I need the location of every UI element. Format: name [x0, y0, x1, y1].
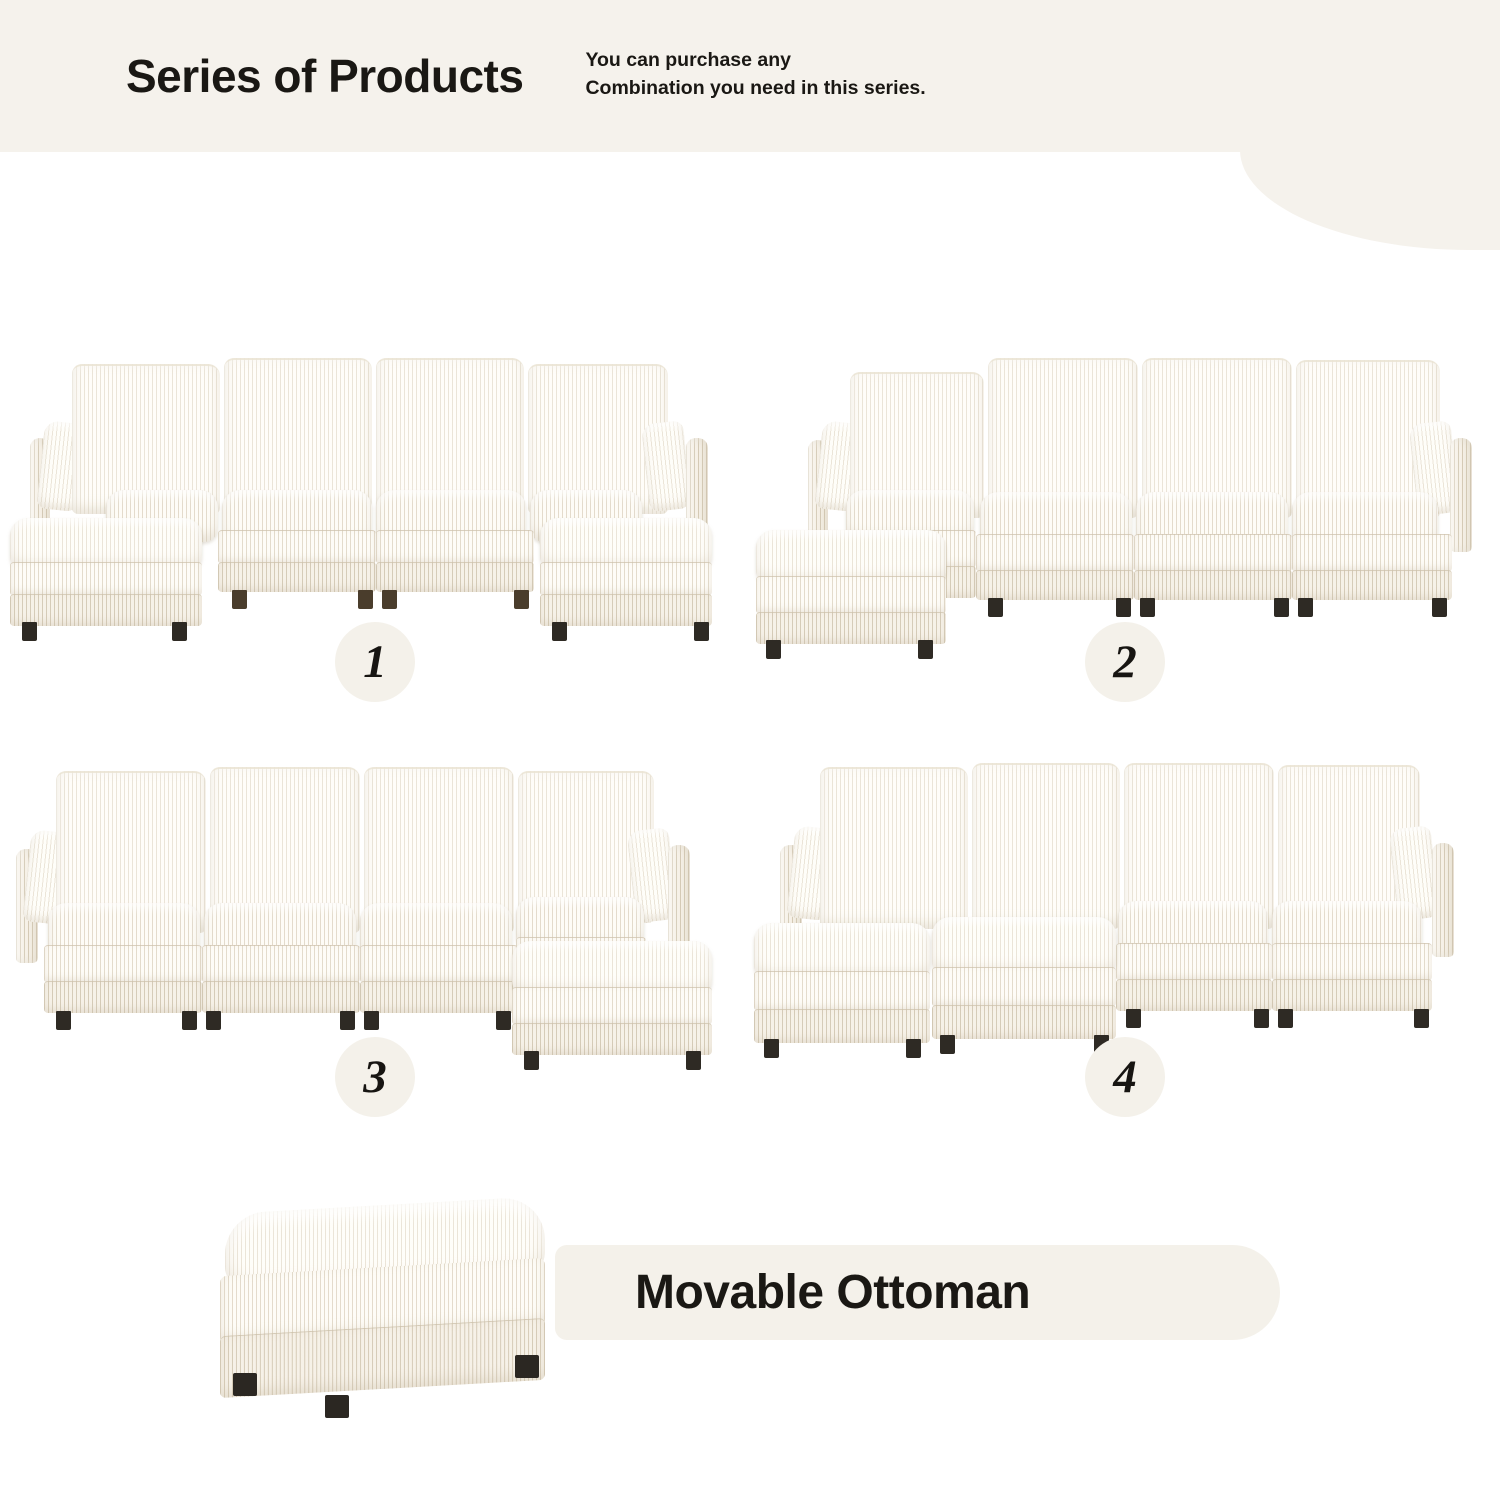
sofa-foot-2 — [1116, 598, 1131, 617]
ottoman-right-foot-1 — [552, 622, 567, 641]
sofa-foot-1 — [56, 1011, 71, 1030]
ottoman-foot-1 — [524, 1051, 539, 1070]
ottoman-hero-foot-1 — [233, 1373, 257, 1396]
ottoman-hero-foot-2 — [325, 1395, 349, 1418]
configuration-2[interactable]: 2 — [750, 330, 1500, 745]
sofa-foot-3 — [1140, 598, 1155, 617]
ottoman-a-foot-1 — [764, 1039, 779, 1058]
sofa-foot-1 — [988, 598, 1003, 617]
configuration-badge-3: 3 — [335, 1037, 415, 1117]
movable-ottoman-illustration[interactable] — [215, 1205, 565, 1420]
configuration-1[interactable]: 1 — [0, 330, 750, 745]
ottoman-hero-foot-3 — [515, 1355, 539, 1378]
ottoman-left-foot-2 — [172, 622, 187, 641]
ottoman-a-top[interactable] — [754, 971, 930, 1011]
seat-base-1 — [976, 534, 1134, 572]
configuration-badge-2: 2 — [1085, 622, 1165, 702]
sofa-foot-3 — [382, 590, 397, 609]
seat-base-3 — [376, 530, 534, 564]
seat-base-2 — [202, 945, 360, 983]
sofa-illustration-3 — [0, 745, 750, 1045]
ottoman-left-foot-1 — [22, 622, 37, 641]
plinth-2 — [202, 981, 360, 1013]
sofa-foot-4 — [340, 1011, 355, 1030]
sofa-foot-4 — [514, 590, 529, 609]
page-subtitle: You can purchase any Combination you nee… — [585, 47, 925, 102]
ottoman-left-top[interactable] — [10, 562, 202, 596]
ottoman-a-foot-2 — [906, 1039, 921, 1058]
ottoman-b-top[interactable] — [932, 967, 1116, 1007]
configuration-badge-4: 4 — [1085, 1037, 1165, 1117]
sofa-foot-6 — [496, 1011, 511, 1030]
seat-base-1 — [44, 945, 202, 983]
ottoman-b-foot-1 — [940, 1035, 955, 1054]
movable-ottoman-banner: Movable Ottoman — [555, 1245, 1280, 1340]
seat-base-2 — [218, 530, 376, 564]
ottoman-foot-1 — [766, 640, 781, 659]
page-title: Series of Products — [126, 49, 523, 103]
back-cushion-2 — [224, 358, 372, 510]
plinth-3 — [376, 562, 534, 592]
seat-base-3 — [1292, 534, 1452, 572]
header-text-group: Series of Products You can purchase any … — [0, 0, 1500, 152]
ottoman-b-base[interactable] — [932, 1005, 1116, 1039]
ottoman-base[interactable] — [512, 1023, 712, 1055]
sofa-foot-6 — [1432, 598, 1447, 617]
plinth-2 — [218, 562, 376, 592]
sofa-arm-right — [1432, 843, 1454, 957]
plinth-2 — [1272, 979, 1432, 1011]
sofa-foot-4 — [1274, 598, 1289, 617]
plinth-2 — [1134, 570, 1292, 600]
ottoman-foot-2 — [918, 640, 933, 659]
back-cushion-2 — [972, 763, 1120, 929]
sofa-arm-right — [1450, 438, 1472, 552]
sofa-foot-4 — [1414, 1009, 1429, 1028]
sofa-foot-5 — [1298, 598, 1313, 617]
sofa-illustration-2 — [750, 330, 1500, 630]
back-cushion-3 — [376, 358, 524, 510]
sofa-foot-3 — [206, 1011, 221, 1030]
sofa-foot-2 — [182, 1011, 197, 1030]
seat-base-3 — [360, 945, 518, 983]
ottoman-right-foot-2 — [694, 622, 709, 641]
ottoman-top[interactable] — [512, 987, 712, 1025]
throw-pillow-right — [641, 420, 692, 512]
plinth-1 — [976, 570, 1134, 600]
sofa-foot-5 — [364, 1011, 379, 1030]
sofa-illustration-1 — [0, 330, 750, 630]
plinth-3 — [360, 981, 518, 1013]
movable-ottoman-label: Movable Ottoman — [635, 1265, 1030, 1320]
configuration-4[interactable]: 4 — [750, 745, 1500, 1160]
sofa-foot-2 — [358, 590, 373, 609]
ottoman-top[interactable] — [756, 576, 946, 614]
seat-base-2 — [1134, 534, 1292, 572]
plinth-3 — [1292, 570, 1452, 600]
seat-base-1 — [1116, 943, 1272, 981]
configuration-badge-1: 1 — [335, 622, 415, 702]
sofa-foot-1 — [1126, 1009, 1141, 1028]
ottoman-foot-2 — [686, 1051, 701, 1070]
back-cushion-1 — [820, 767, 968, 929]
sofa-foot-1 — [232, 590, 247, 609]
ottoman-right-top[interactable] — [540, 562, 712, 596]
seat-base-2 — [1272, 943, 1432, 981]
sofa-foot-2 — [1254, 1009, 1269, 1028]
configuration-grid: 1 — [0, 330, 1500, 1160]
sofa-foot-3 — [1278, 1009, 1293, 1028]
sofa-illustration-4 — [750, 745, 1500, 1045]
plinth-1 — [44, 981, 202, 1013]
configuration-3[interactable]: 3 — [0, 745, 750, 1160]
plinth-1 — [1116, 979, 1272, 1011]
ottoman-a-base[interactable] — [754, 1009, 930, 1043]
